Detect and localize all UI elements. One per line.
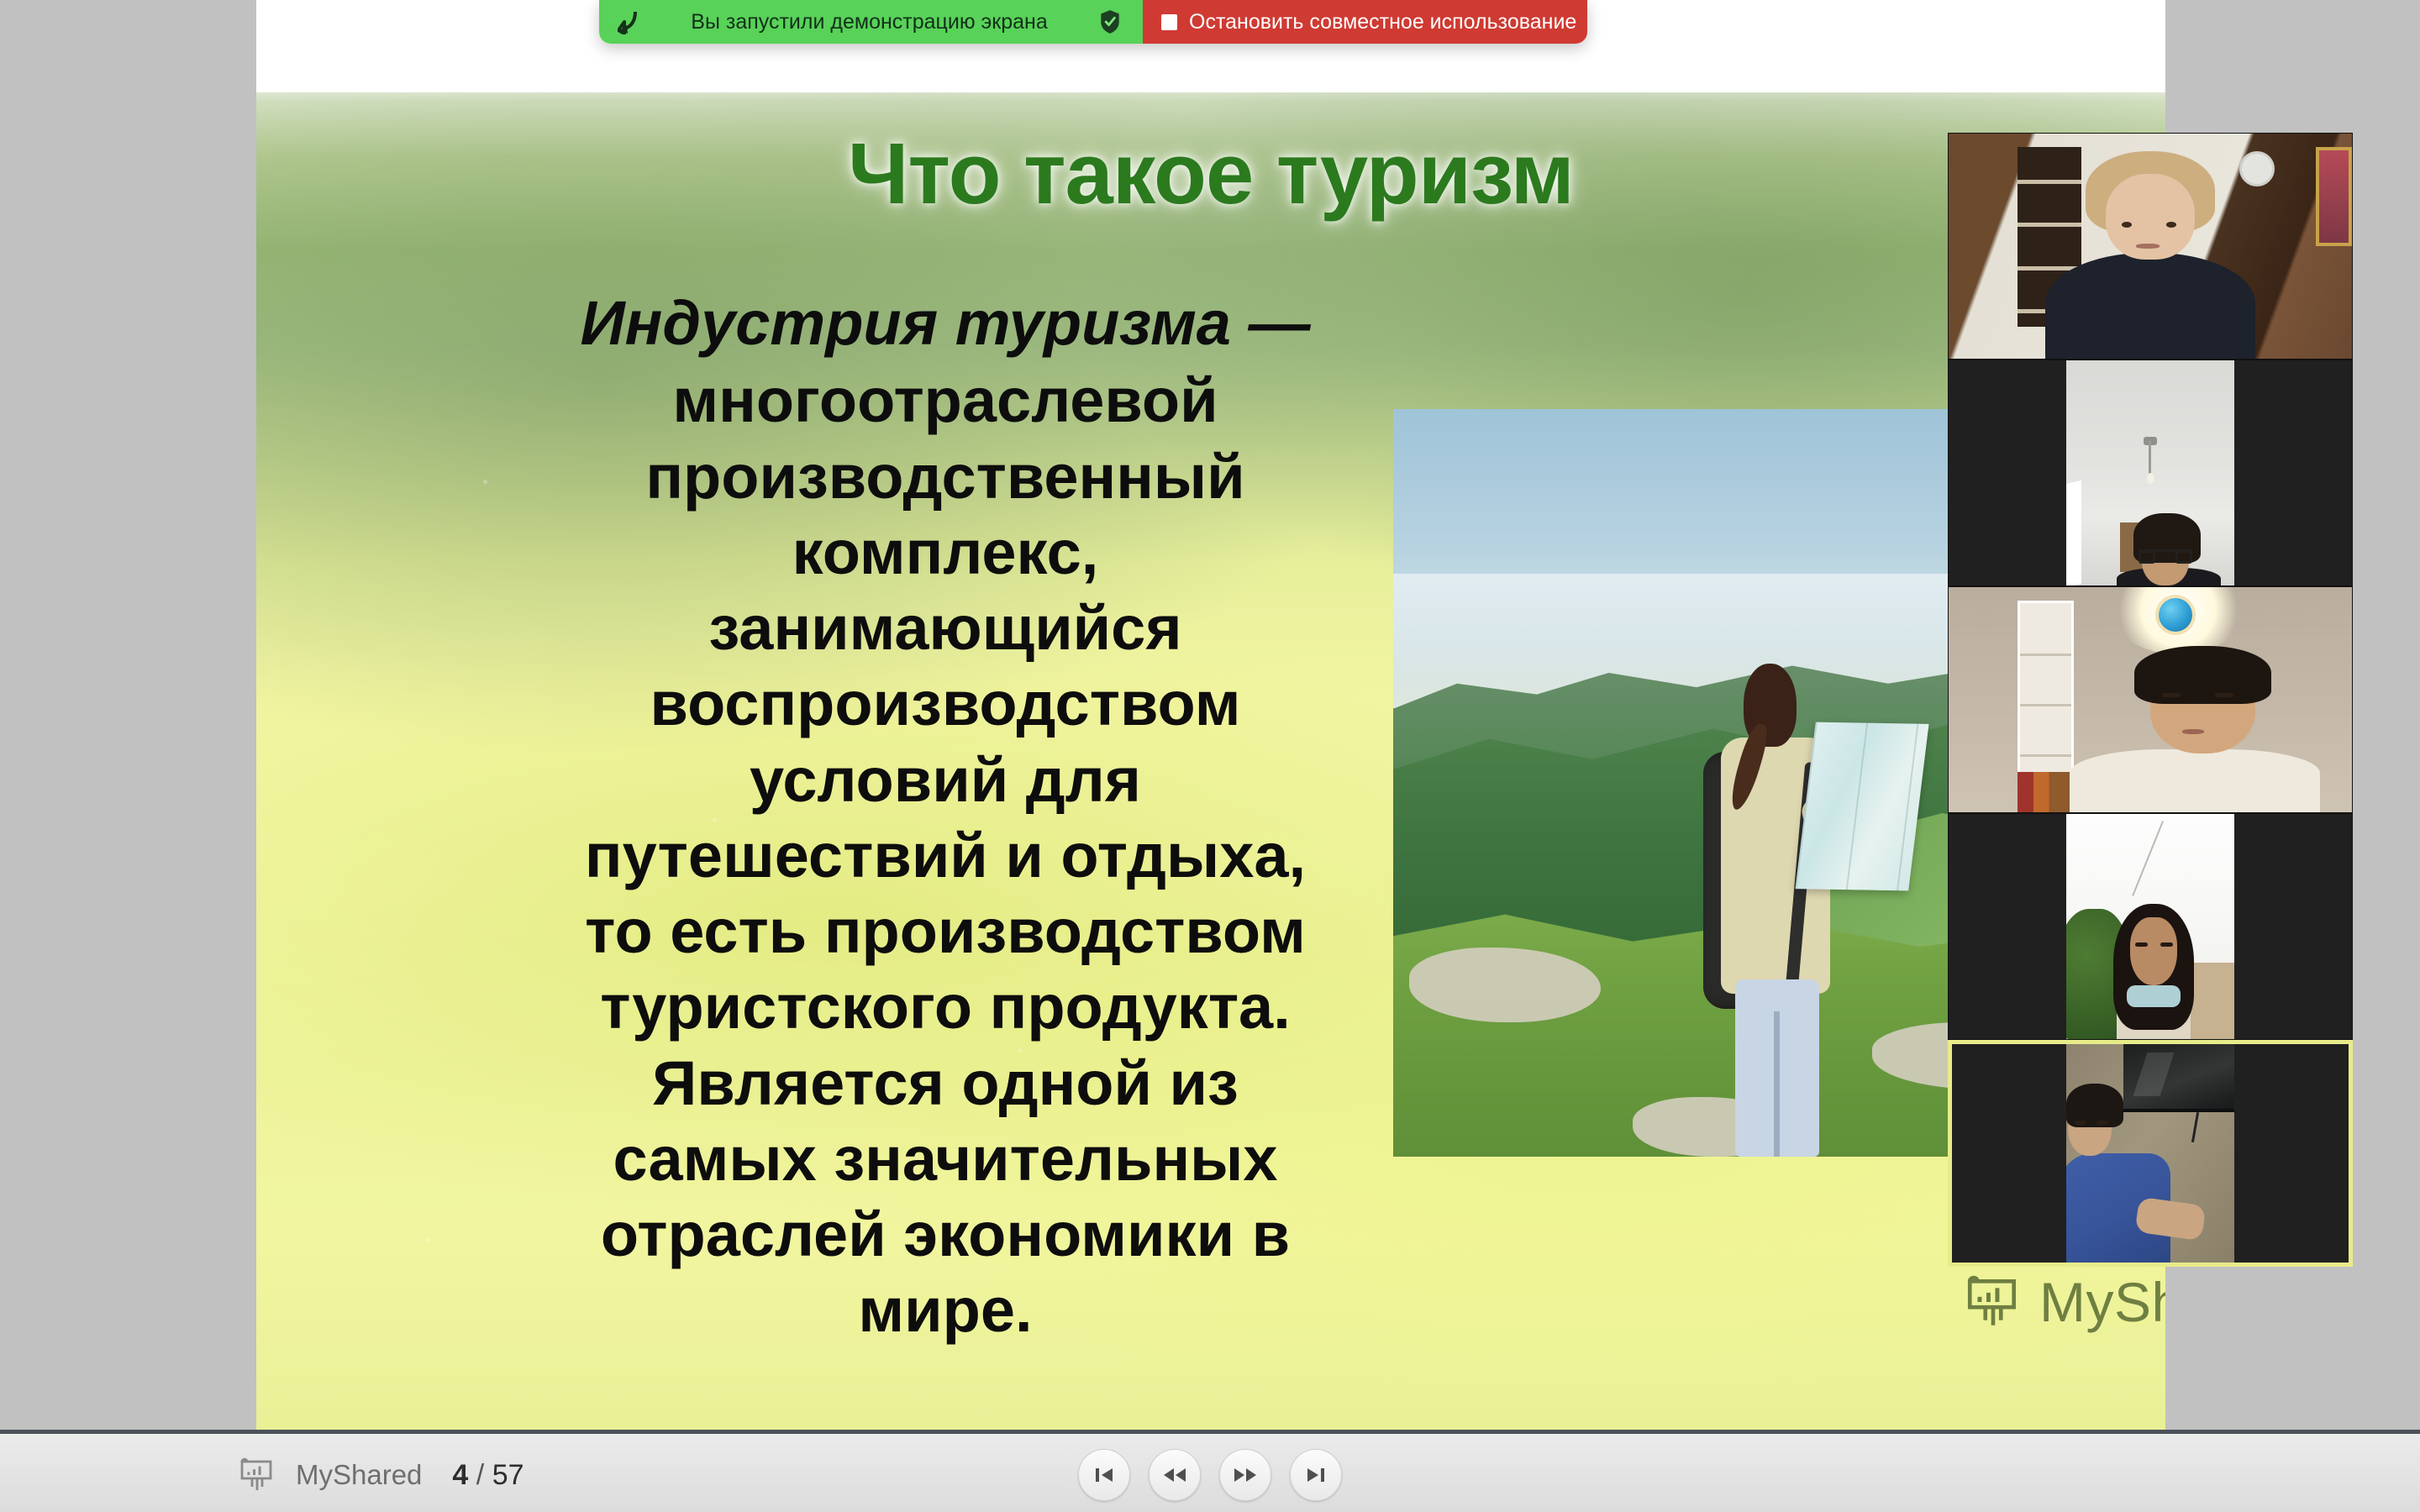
first-slide-button[interactable]: [1078, 1449, 1130, 1501]
tile1-wall-clock: [2239, 151, 2275, 186]
participant-tile-4[interactable]: [1948, 813, 2353, 1040]
participant-tile-2[interactable]: [1948, 360, 2353, 586]
participant-video-strip: [1948, 133, 2353, 1267]
previous-slide-button[interactable]: [1149, 1449, 1201, 1501]
video-feed-3: [1949, 587, 2352, 812]
tile2-doorway: [2066, 480, 2081, 585]
next-slide-button[interactable]: [1219, 1449, 1271, 1501]
tile3-globe-lamp: [2159, 598, 2192, 632]
tile2-portrait-frame: [2066, 360, 2234, 585]
hiker-jeans: [1735, 979, 1819, 1157]
tile4-portrait-frame: [2066, 814, 2234, 1039]
slide-body-paragraph: многоотраслевой производственный комплек…: [585, 365, 1306, 1345]
presentation-toolbar: MyShared 4 / 57: [0, 1430, 2420, 1512]
stop-square-icon: [1161, 14, 1177, 30]
photo-hiker-figure: [1697, 664, 1872, 1157]
video-feed-1: [1949, 134, 2352, 359]
participant-tile-5-active-speaker[interactable]: [1948, 1040, 2353, 1267]
tile5-eye: [2075, 1121, 2086, 1125]
slide-navigation-controls: [0, 1434, 2420, 1512]
tile3-books: [2018, 772, 2074, 812]
tile5-portrait-frame: [2066, 1044, 2234, 1263]
tile2-glasses: [2139, 549, 2192, 557]
curved-arrow-icon: [618, 9, 639, 34]
tile5-eye: [2096, 1121, 2108, 1125]
tile3-mouth: [2182, 729, 2204, 734]
tile3-person-hair: [2134, 646, 2271, 705]
participant-tile-3[interactable]: [1948, 586, 2353, 813]
stop-sharing-button[interactable]: Остановить совместное использование: [1143, 0, 1587, 44]
tile4-eye: [2160, 942, 2173, 947]
video-feed-4: [1949, 814, 2352, 1039]
tile4-face-mask: [2127, 985, 2181, 1008]
shared-screen-area: Что такое туризм Индустрия туризма — мно…: [256, 0, 2165, 1430]
screen-share-banner: Вы запустили демонстрацию экрана Останов…: [599, 0, 1587, 44]
tile4-person-face: [2130, 917, 2177, 984]
share-status-label: Вы запустили демонстрацию экрана: [639, 10, 1099, 34]
slide-title: Что такое туризм: [256, 124, 2165, 223]
tile4-eye: [2135, 942, 2148, 947]
hiker-map: [1795, 722, 1928, 891]
shield-check-icon: [1099, 9, 1121, 34]
slide-body-text: Индустрия туризма — многоотраслевой прои…: [567, 286, 1323, 1349]
stop-sharing-label: Остановить совместное использование: [1189, 10, 1576, 34]
tile1-mouth: [2136, 244, 2160, 249]
tile2-light-bulb: [2147, 473, 2154, 484]
slide-watermark: MyShared: [1962, 1270, 2165, 1334]
screen-share-status: Вы запустили демонстрацию экрана: [599, 0, 1143, 44]
video-feed-5: [1952, 1044, 2349, 1263]
tile3-eye: [2162, 693, 2181, 697]
presentation-board-icon: [1962, 1271, 2024, 1333]
tile3-person-shirt: [2070, 749, 2320, 812]
screen-root: Что такое туризм Индустрия туризма — мно…: [0, 0, 2420, 1512]
tile3-eye: [2215, 693, 2233, 697]
tile1-picture-frame: [2316, 147, 2352, 246]
last-slide-button[interactable]: [1290, 1449, 1342, 1501]
watermark-label: MyShared: [2039, 1270, 2165, 1334]
video-feed-2: [1949, 360, 2352, 585]
tile1-eye: [2166, 222, 2176, 228]
tile1-person-torso: [2045, 253, 2255, 359]
tile1-eye: [2122, 222, 2132, 228]
slide-body-lead: Индустрия туризма —: [567, 286, 1323, 361]
participant-tile-1[interactable]: [1948, 133, 2353, 360]
